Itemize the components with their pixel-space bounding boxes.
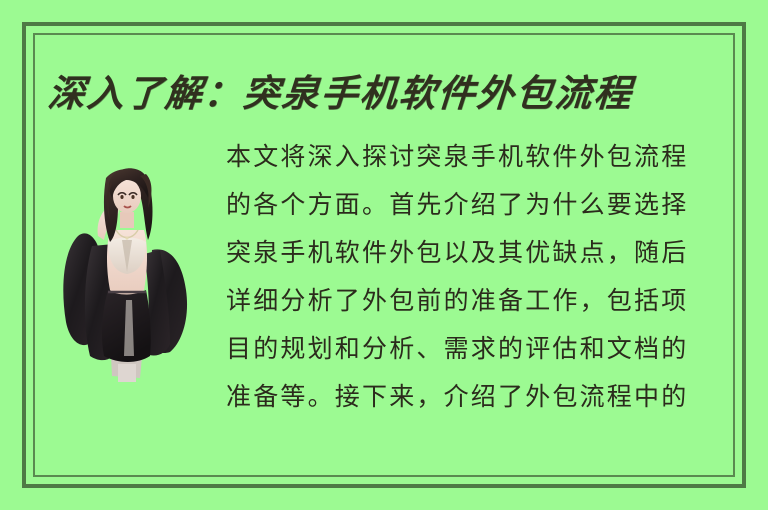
body-line: 突泉手机软件外包以及其优缺点，随后 — [226, 229, 726, 277]
body-line: 本文将深入探讨突泉手机软件外包流程 — [226, 133, 726, 181]
body-line: 的各个方面。首先介绍了为什么要选择 — [226, 181, 726, 229]
female-figure-illustration — [52, 150, 202, 390]
page-title: 深入了解：突泉手机软件外包流程 — [46, 63, 635, 117]
body-line: 准备等。接下来，介绍了外包流程中的 — [226, 373, 726, 421]
article-body: 本文将深入探讨突泉手机软件外包流程 的各个方面。首先介绍了为什么要选择 突泉手机… — [226, 133, 726, 421]
body-line: 详细分析了外包前的准备工作，包括项 — [226, 277, 726, 325]
body-line: 目的规划和分析、需求的评估和文档的 — [226, 325, 726, 373]
poster-canvas: 深入了解：突泉手机软件外包流程 — [0, 0, 768, 510]
illustration-figure — [52, 150, 202, 390]
